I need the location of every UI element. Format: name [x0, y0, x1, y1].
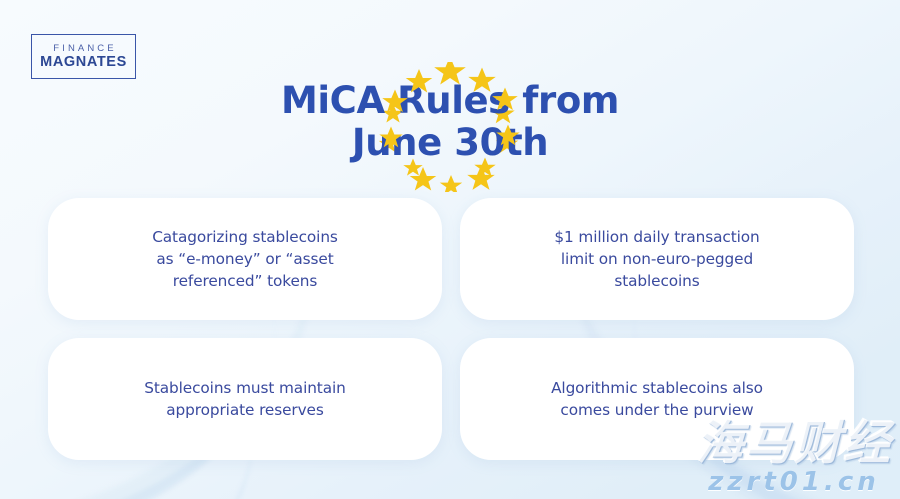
- rules-card-grid: Catagorizing stablecoins as “e-money” or…: [48, 198, 854, 460]
- eu-star-circle-front: [335, 62, 565, 192]
- card-categorization: Catagorizing stablecoins as “e-money” or…: [48, 198, 442, 320]
- watermark-url: zzrt01.cn: [696, 469, 892, 495]
- card-text: Algorithmic stablecoins also comes under…: [551, 377, 763, 421]
- card-algorithmic: Algorithmic stablecoins also comes under…: [460, 338, 854, 460]
- logo-line-finance: FINANCE: [50, 44, 116, 54]
- title-block: MiCA Rules from June 30th: [0, 62, 900, 192]
- card-text: Catagorizing stablecoins as “e-money” or…: [152, 226, 338, 293]
- card-text: Stablecoins must maintain appropriate re…: [144, 377, 345, 421]
- card-reserves: Stablecoins must maintain appropriate re…: [48, 338, 442, 460]
- card-transaction-limit: $1 million daily transaction limit on no…: [460, 198, 854, 320]
- infographic-canvas: FINANCE MAGNATES: [0, 0, 900, 499]
- card-text: $1 million daily transaction limit on no…: [554, 226, 759, 293]
